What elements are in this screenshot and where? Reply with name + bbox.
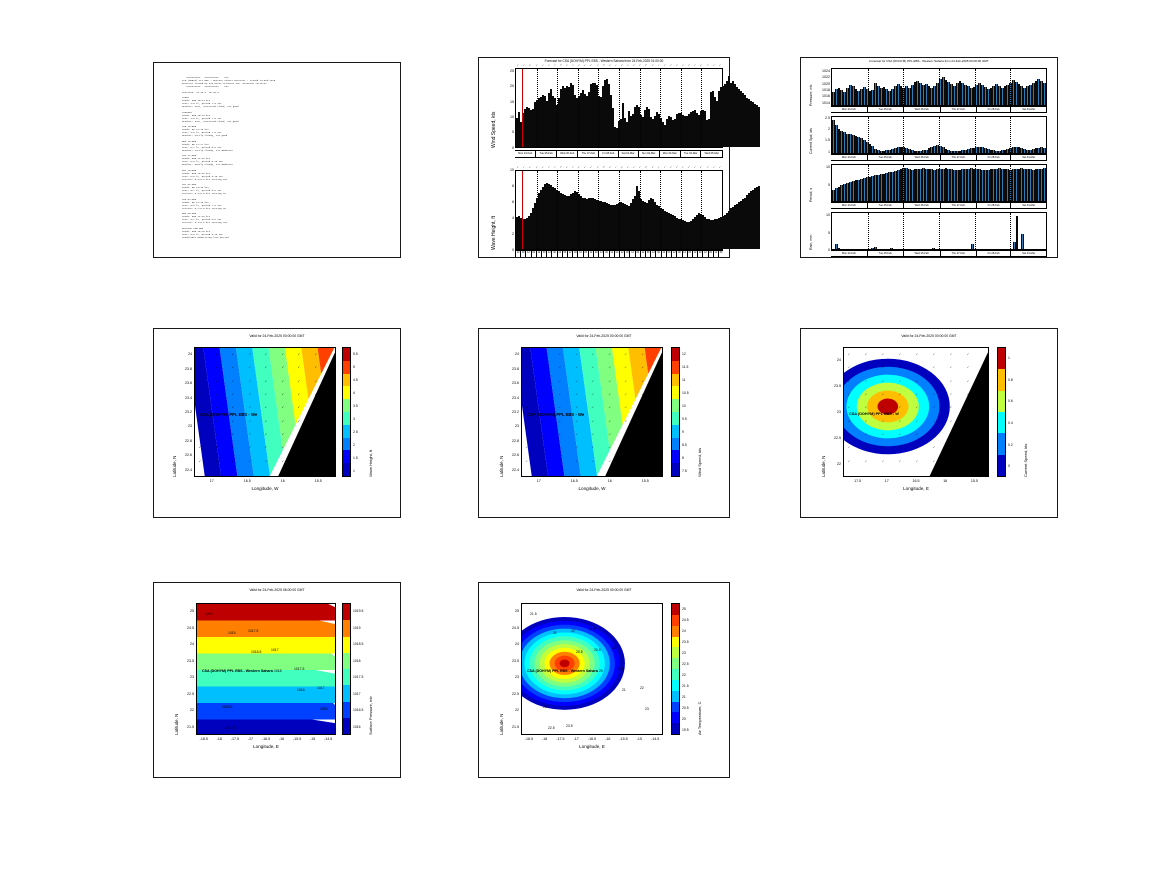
date-tick: Sat 01-Mar	[619, 151, 639, 157]
date-tick: Tue 25-Feb	[868, 251, 904, 256]
barb-icon: ↑	[651, 165, 655, 169]
contour-label: 21.5	[530, 612, 537, 616]
colorbar-segment	[672, 412, 679, 425]
colorbar-tick: 2	[353, 443, 355, 447]
colorbar-segment	[343, 399, 350, 412]
axis-ytick: 25	[179, 609, 194, 613]
colorbar-tick: 0.6	[1008, 399, 1013, 403]
barb-icon: ↑	[522, 165, 526, 169]
axis-ytick: 23.2	[504, 410, 519, 414]
barb-icon: ↑	[517, 165, 520, 169]
colorbar-segment	[672, 680, 679, 691]
axis-ytick: 1.5	[815, 138, 830, 142]
axis-xtick: -18.5	[196, 737, 212, 741]
barb-icon: ↑	[577, 63, 581, 66]
map-ylabel: Latitude, N	[821, 456, 826, 477]
colorbar-tick: 10	[682, 404, 686, 408]
barb-icon: ↑	[699, 165, 703, 169]
barb-icon: ↑	[614, 165, 618, 169]
barb-icon: ↑	[718, 63, 722, 67]
gridline	[975, 165, 976, 201]
axis-xtick: 16	[275, 479, 291, 483]
colorbar-segment	[343, 348, 350, 361]
axis-ytick: 24	[826, 358, 841, 362]
colorbar-tick: 1	[353, 469, 355, 473]
map-title: Valid for 24-Feb-2025 00:00:00 GMT	[154, 334, 400, 338]
bar	[1043, 83, 1046, 105]
barb-icon: ↑	[553, 63, 557, 66]
axis-xtick: 16	[602, 479, 618, 483]
date-tick: Thu 27-Feb	[941, 251, 977, 256]
contour-label: 22	[640, 686, 644, 690]
colorbar-segment	[343, 386, 350, 399]
contour-label: 22.5	[548, 726, 555, 730]
axis-xtick: -15	[305, 737, 321, 741]
colorbar-tick: 5	[353, 365, 355, 369]
colorbar-segment	[343, 604, 350, 620]
date-tick: Wed 05-Mar	[701, 151, 723, 157]
barb-icon: ↑	[522, 63, 526, 67]
wave-height-map-panel: Valid for 24-Feb-2025 00:00:00 GMT↑↑↑↑↑↑…	[153, 328, 401, 518]
gridline	[619, 171, 620, 249]
date-tick: Wed 26-Feb	[904, 251, 941, 256]
date-tick: Fri 28-Feb	[977, 155, 1012, 160]
now-marker	[522, 69, 523, 147]
date-tick: Mon 24-Feb	[831, 251, 868, 256]
gridline	[701, 69, 702, 147]
date-tick: Mon 24-Feb	[831, 203, 868, 208]
barb-icon: ↑	[559, 64, 563, 66]
gridline	[903, 117, 904, 153]
colorbar	[342, 603, 351, 735]
gridline	[537, 171, 538, 249]
contour-label: 21	[553, 631, 557, 635]
barb-icon: ↑	[584, 165, 587, 169]
axis-ytick: 0	[815, 248, 830, 252]
axis-ytick: 21.5	[504, 725, 519, 729]
axis-ytick: 10	[815, 213, 830, 217]
barb-icon: ↑	[534, 64, 538, 67]
axis-ytick: 22.5	[826, 436, 841, 440]
axis-ytick: 8	[499, 184, 514, 188]
barb-icon: ↑	[565, 63, 569, 67]
bar	[758, 107, 760, 148]
gridline	[640, 171, 641, 249]
axis-ytick: 15	[499, 100, 514, 104]
date-tick: Thu 27-Feb	[941, 107, 977, 112]
barb-icon: ↑	[644, 166, 648, 169]
gridline	[537, 69, 538, 147]
axis-ytick: 23.6	[504, 381, 519, 385]
axis-ytick: 23.2	[177, 410, 192, 414]
chart-wave-height-axes	[515, 170, 723, 250]
colorbar-label: Wave Height, ft	[368, 450, 373, 477]
date-tick: Mon 03-Mar	[660, 151, 681, 157]
map-ylabel: Latitude, N	[172, 456, 177, 477]
chart-wave-period-chart-ylabel: Period, s	[809, 188, 813, 202]
colorbar	[671, 347, 680, 477]
date-axis-strip: Mon 24-FebTue 25-FebWed 26-FebThu 27-Feb…	[515, 150, 723, 158]
date-axis-strip: Mon 24-FebTue 25-FebWed 26-FebThu 27-Feb…	[831, 106, 1047, 113]
barb-icon: ↑	[595, 63, 599, 66]
chart-wave-period-chart-axes	[831, 164, 1047, 202]
gridline	[868, 117, 869, 153]
now-marker	[522, 171, 523, 249]
bar	[1043, 148, 1046, 153]
axis-xtick: 15.5	[966, 479, 982, 483]
site-stamp: CSA (DOHYM) PPL EBS - We	[527, 412, 584, 417]
colorbar-segment	[343, 450, 350, 463]
axis-ytick: 23.5	[179, 659, 194, 663]
axis-ytick: 23.8	[504, 367, 519, 371]
colorbar-segment	[672, 386, 679, 399]
axis-ytick: 10	[499, 168, 514, 172]
barb-icon: ↑	[638, 63, 642, 67]
date-axis-strip: Mon 24-FebTue 25-FebWed 26-FebThu 27-Feb…	[831, 154, 1047, 161]
axis-ytick: 24	[177, 352, 192, 356]
axis-ytick: 1022	[815, 75, 830, 79]
colorbar	[671, 603, 680, 735]
colorbar-segment	[672, 348, 679, 361]
axis-ytick: 25	[499, 69, 514, 73]
map-xlabel: Longitude, E	[196, 744, 336, 749]
axis-xtick: 17	[531, 479, 547, 483]
colorbar-tick: 3.5	[353, 404, 358, 408]
axis-xtick: -16	[600, 737, 616, 741]
gridline	[1010, 117, 1011, 153]
date-tick: Sat 01-Mar	[1011, 107, 1047, 112]
colorbar-tick: 1.5	[353, 456, 358, 460]
contour-label: 1019	[205, 612, 213, 616]
barb-icon: ↑	[687, 166, 691, 169]
colorbar-segment	[343, 718, 350, 734]
colorbar-tick: 25	[682, 607, 686, 611]
contour-label: 1019	[228, 631, 236, 635]
colorbar-segment	[343, 438, 350, 451]
forecast-text-report-panel: ========== ========== ===CSA (DOHYM) PPL…	[153, 62, 401, 258]
colorbar-segment	[343, 637, 350, 653]
colorbar-tick: 24	[682, 629, 686, 633]
axis-ytick: 2	[499, 232, 514, 236]
barb-icon: ↑	[662, 63, 666, 66]
colorbar-segment	[672, 702, 679, 713]
bar	[838, 248, 841, 249]
axis-ytick: 6	[499, 200, 514, 204]
barb-icon: ↑	[669, 63, 672, 67]
date-tick: Wed 26-Feb	[557, 151, 579, 157]
colorbar-tick: 1018.5	[353, 642, 363, 646]
barb-icon: ↑	[693, 165, 697, 169]
barb-icon: ↑	[614, 63, 618, 67]
chart-current-speed-chart-axes	[831, 116, 1047, 154]
colorbar-tick: 1017.5	[353, 675, 363, 679]
axis-ytick: 5	[499, 130, 514, 134]
colorbar-tick: 8.5	[682, 443, 687, 447]
gridline	[903, 69, 904, 105]
axis-ytick: 2.5	[815, 116, 830, 120]
colorbar-segment	[343, 620, 350, 636]
colorbar-label: Air Temperature, C	[697, 702, 702, 736]
barb-icon: ↑	[699, 63, 703, 67]
axis-xtick: -16.5	[584, 737, 600, 741]
colorbar-tick: 0.8	[1008, 378, 1013, 382]
axis-xtick: 15.5	[310, 479, 326, 483]
colorbar-segment	[672, 374, 679, 387]
chart-wind-speed-ylabel: Wind Speed, kts	[491, 112, 497, 148]
map-title: Valid for 24-Feb-2025 06:00:00 GMT	[154, 588, 400, 592]
axis-xtick: -15.5	[289, 737, 305, 741]
bar	[890, 248, 893, 249]
contour-label: 1017.5	[294, 667, 304, 671]
contour-label: 1016.5	[222, 705, 232, 709]
gridline	[557, 69, 558, 147]
gridline	[681, 171, 682, 249]
barb-icon: ↑	[669, 165, 672, 169]
barb-icon: ↑	[559, 166, 563, 168]
barb-icon: ↑	[638, 165, 642, 169]
colorbar	[997, 347, 1006, 477]
colorbar-segment	[998, 369, 1005, 390]
date-tick: Tue 04-Mar	[681, 151, 702, 157]
colorbar-tick: 8	[682, 456, 684, 460]
barb-icon: ↑	[656, 63, 660, 67]
axis-xtick: -14.5	[320, 737, 336, 741]
colorbar-tick: 2.5	[353, 430, 358, 434]
colorbar-tick: 5.5	[353, 352, 358, 356]
multipanel-title: Forecast for CSA (DOHYM) PPL EBS - Weste…	[801, 59, 1057, 63]
axis-xtick: -14.5	[647, 737, 663, 741]
axis-ytick: 23.4	[504, 396, 519, 400]
colorbar-segment	[672, 399, 679, 412]
bar	[1043, 168, 1046, 201]
axis-ytick: 24.5	[179, 626, 194, 630]
colorbar-segment	[672, 463, 679, 476]
date-tick: Fri 28-Feb	[977, 251, 1012, 256]
colorbar-tick: 21	[682, 695, 686, 699]
axis-ytick: 4	[499, 216, 514, 220]
bar	[1016, 216, 1019, 249]
axis-ytick: 22.5	[179, 692, 194, 696]
map-title: Valid for 24-Feb-2025 00:00:00 GMT	[479, 334, 729, 338]
axis-xtick: -15	[631, 737, 647, 741]
date-tick: Tue 25-Feb	[868, 155, 904, 160]
contour-label: 20.5	[576, 650, 583, 654]
contour-label: 20	[599, 669, 603, 673]
date-tick: Tue 25-Feb	[868, 203, 904, 208]
colorbar-segment	[343, 425, 350, 438]
axis-ytick: 23	[177, 424, 192, 428]
colorbar-tick: 10.5	[682, 391, 689, 395]
colorbar-tick: 0	[1008, 464, 1010, 468]
colorbar-tick: 24.5	[682, 618, 689, 622]
colorbar-segment	[998, 433, 1005, 454]
site-stamp: CSA (DOHYM) PPL EBS - Western Sahara	[527, 669, 598, 673]
axis-ytick: 2	[815, 127, 830, 131]
axis-xtick: -17	[242, 737, 258, 741]
barb-icon: ↑	[577, 165, 581, 168]
colorbar-tick: 1019.5	[353, 609, 363, 613]
gridline	[578, 69, 579, 147]
colorbar-tick: 9	[682, 430, 684, 434]
chart-current-speed-chart-ylabel: Current Spd, kts	[809, 128, 813, 154]
axis-xtick: -17.5	[227, 737, 243, 741]
axis-xtick: -18.5	[521, 737, 537, 741]
date-tick: Fri 28-Feb	[977, 107, 1012, 112]
chart-pressure-chart-ylabel: Pressure, mb	[809, 85, 813, 106]
colorbar-tick: 1016	[353, 725, 361, 729]
map-xlabel: Longitude, W	[194, 486, 336, 491]
colorbar-tick: 1019	[353, 626, 361, 630]
contour-label: 23	[645, 707, 649, 711]
barb-icon: ↑	[705, 63, 709, 66]
barb-icon: ↑	[589, 165, 593, 169]
chart-wind-speed-axes	[515, 68, 723, 148]
wind-speed-map-panel: Valid for 24-Feb-2025 00:00:00 GMT↑↑↑↑↑↑…	[478, 328, 730, 518]
gridline	[701, 171, 702, 249]
axis-ytick: 1020	[815, 82, 830, 86]
gridline	[557, 171, 558, 249]
barb-icon: ↑	[528, 63, 532, 67]
current-speed-map-panel: Valid for 24-Feb-2025 00:00:00 GMT↑↑↑↑↑↑…	[800, 328, 1058, 518]
axis-ytick: 1014	[815, 101, 830, 105]
colorbar-tick: 1	[1008, 356, 1010, 360]
date-tick: Mon 24-Feb	[831, 107, 868, 112]
colorbar-tick: 4	[353, 391, 355, 395]
date-tick: Sat 01-Mar	[1011, 155, 1047, 160]
colorbar-tick: 7.5	[682, 469, 687, 473]
colorbar-segment	[672, 615, 679, 626]
axis-ytick: 25	[504, 609, 519, 613]
map-xlabel: Longitude, E	[521, 744, 663, 749]
barb-icon: ↑	[662, 165, 666, 168]
chart-precipitation-chart-ylabel: Rain, mm	[809, 235, 813, 250]
date-tick: Wed 26-Feb	[904, 155, 941, 160]
gridline	[1010, 165, 1011, 201]
axis-ytick: 21.5	[179, 725, 194, 729]
axis-ytick: 23	[504, 424, 519, 428]
barb-icon: ↑	[571, 165, 575, 169]
contour-label: 21.5	[589, 627, 596, 631]
colorbar-segment	[672, 604, 679, 615]
barb-icon: ↑	[718, 165, 722, 169]
colorbar-segment	[672, 691, 679, 702]
axis-ytick: 24	[179, 642, 194, 646]
axis-ytick: 24.5	[504, 626, 519, 630]
multivariable-timeseries-panel: Forecast for CSA (DOHYM) PPL EBS - Weste…	[800, 57, 1058, 258]
date-axis-strip: Mon 24-FebTue 25-FebWed 26-FebThu 27-Feb…	[831, 250, 1047, 257]
colorbar-tick: 11.5	[682, 365, 688, 369]
axis-ytick: 22.6	[504, 453, 519, 457]
map-title: Valid for 24-Feb-2025 00:00:00 GMT	[479, 588, 729, 592]
colorbar-tick: 3	[353, 417, 355, 421]
gridline	[939, 69, 940, 105]
gridline	[975, 117, 976, 153]
colorbar-label: Current Speed, kts	[1023, 444, 1028, 477]
colorbar-segment	[343, 653, 350, 669]
axis-ytick: 22	[179, 708, 194, 712]
report-line: Conditions moderating late period	[182, 237, 390, 240]
colorbar	[342, 347, 351, 477]
air-temperature-map-panel: Valid for 24-Feb-2025 00:00:00 GMT21.521…	[478, 582, 730, 778]
gridline	[939, 213, 940, 249]
gridline	[939, 165, 940, 201]
date-tick: Thu 27-Feb	[941, 203, 977, 208]
date-tick: Thu 27-Feb	[941, 155, 977, 160]
colorbar-segment	[998, 412, 1005, 433]
colorbar-label: Surface Pressure, mb	[368, 696, 373, 735]
colorbar-tick: 19.5	[682, 728, 689, 732]
colorbar-tick: 1016.5	[353, 708, 363, 712]
axis-ytick: 22.4	[504, 468, 519, 472]
date-axis-strip: Mon 24-FebTue 25-FebWed 26-FebThu 27-Feb…	[831, 202, 1047, 209]
axis-ytick: 23	[504, 675, 519, 679]
site-stamp: CSA (DOHYM) PPL EBS - Western Sahara	[202, 669, 273, 673]
contour-label: 1018	[297, 688, 305, 692]
barb-icon: ↑	[571, 63, 575, 67]
barb-icon: ↑	[687, 64, 691, 67]
date-tick: Sat 01-Mar	[1011, 203, 1047, 208]
barb-icon: ↑	[620, 63, 624, 66]
gridline	[660, 69, 661, 147]
contour-label: 20	[612, 646, 616, 650]
axis-xtick: 17	[879, 479, 895, 483]
hour-tick: 00	[718, 251, 723, 257]
contour-label: 1017	[271, 648, 279, 652]
axis-xtick: 16.5	[566, 479, 582, 483]
wind-direction-barbs: ↑↑↑↑↑↑↑↑↑↑↑↑↑↑↑↑↑↑↑↑↑↑↑↑↑↑↑↑↑↑↑↑↑↑	[515, 62, 723, 68]
colorbar-tick: 9.5	[682, 417, 687, 421]
axis-ytick: 23	[179, 675, 194, 679]
gridline	[598, 69, 599, 147]
barb-icon: ↑	[601, 166, 605, 169]
barb-icon: ↑	[705, 165, 709, 168]
colorbar-tick: 0.2	[1008, 443, 1013, 447]
date-tick: Sun 02-Mar	[639, 151, 660, 157]
hour-ruler: 1200120012001200120012001200120012001200…	[515, 250, 723, 257]
gridline	[868, 165, 869, 201]
bar	[758, 186, 760, 249]
gridline	[975, 69, 976, 105]
barb-icon: ↑	[675, 63, 679, 67]
barb-icon: ↑	[517, 63, 520, 67]
gridline	[903, 213, 904, 249]
axis-xtick: 16	[937, 479, 953, 483]
date-tick: Fri 28-Feb	[977, 203, 1012, 208]
axis-ytick: 23.5	[826, 384, 841, 388]
colorbar-segment	[672, 647, 679, 658]
barb-icon: ↑	[632, 63, 636, 67]
date-tick: Wed 26-Feb	[904, 203, 941, 208]
gridline	[903, 165, 904, 201]
contour-label: 1018	[274, 669, 282, 673]
colorbar-tick: 22	[682, 673, 686, 677]
barb-icon: ↑	[693, 63, 697, 67]
axis-ytick: 1018	[815, 88, 830, 92]
contour-label: 23	[543, 705, 547, 709]
axis-ytick: 23	[826, 410, 841, 414]
axis-xtick: 17.5	[850, 479, 866, 483]
colorbar-tick: 1017	[353, 692, 361, 696]
axis-xtick: -17	[568, 737, 584, 741]
colorbar-segment	[672, 712, 679, 723]
bar	[932, 248, 935, 249]
axis-ytick: 1	[815, 150, 830, 154]
axis-xtick: -15.5	[616, 737, 632, 741]
site-stamp: CSA (DOHYM) PPL EBS - W	[849, 412, 899, 416]
gridline	[975, 213, 976, 249]
colorbar-segment	[672, 438, 679, 451]
axis-ytick: 0	[499, 248, 514, 252]
